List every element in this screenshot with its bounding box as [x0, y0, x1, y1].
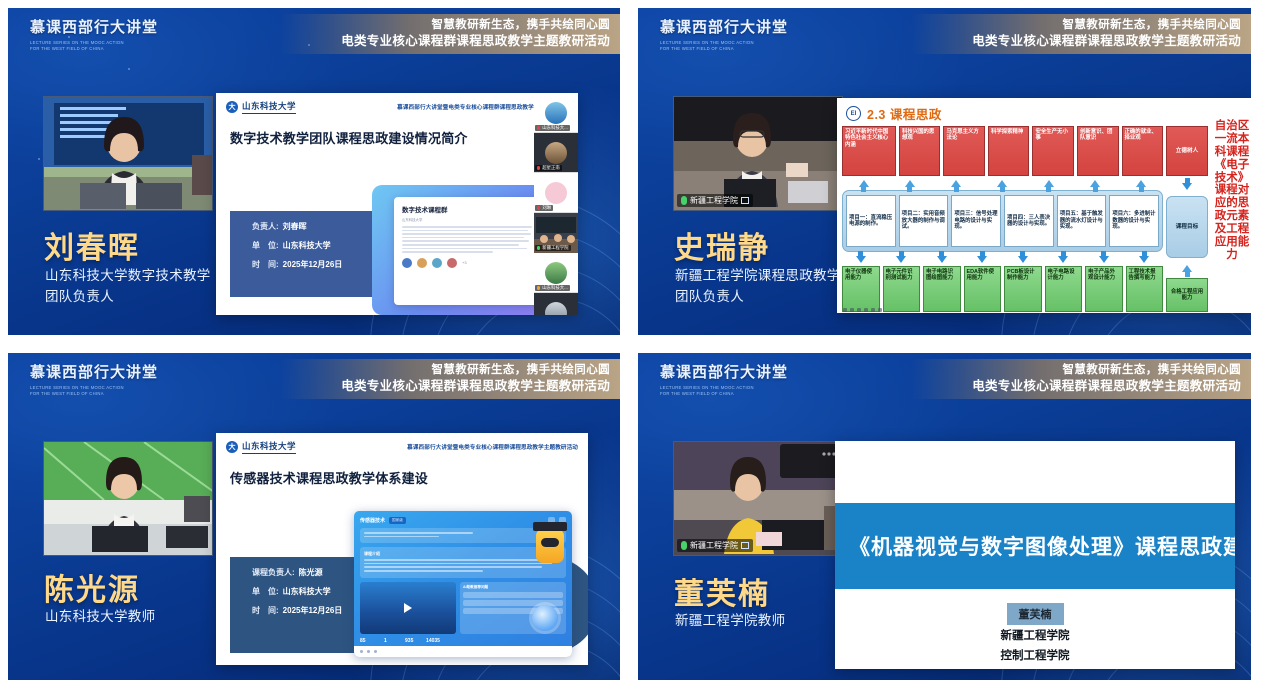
- project-box: 项目五：基于触发器的流水灯设计与实现。: [1057, 195, 1107, 247]
- brand-subtitle: LECTURE SERIES ON THE MOOC ACTION FOR TH…: [660, 385, 788, 398]
- book-text-lines: [402, 226, 532, 253]
- participant-thumb[interactable]: 尹进-山东科技: [534, 293, 578, 315]
- participant-thumb[interactable]: 山东科技大...: [534, 93, 578, 133]
- project-box: 项目三：信号处理电路的设计与实现。: [951, 195, 1001, 247]
- speaker-role-3: 山东科技大学教师: [45, 607, 155, 628]
- brand-block-4: 慕课西部行大讲堂 LECTURE SERIES ON THE MOOC ACTI…: [660, 365, 788, 397]
- ribbon-line-1: 智慧教研新生态，携手共绘同心圆: [1063, 363, 1242, 379]
- diagram-side-note: 自治区一流本科课程《电子技术》课程对应的思政元素及工程应用能力: [1214, 120, 1250, 262]
- mic-muted-icon: [537, 166, 540, 171]
- arrow-down-icon: [1018, 256, 1028, 263]
- screen-share-icon: [741, 542, 749, 549]
- shared-screen-1[interactable]: 大 山东科技大学 慕课西部行大讲堂暨电类专业核心课程群课程思政教学主题教研活动 …: [216, 93, 578, 315]
- participant-label: 刘琳: [535, 205, 553, 211]
- event-ribbon-2: 智慧教研新生态，携手共绘同心圆 电类专业核心课程群课程思政教学主题教研活动: [912, 14, 1251, 54]
- mic-muted-icon: [537, 286, 540, 291]
- participant-thumb[interactable]: 刘琳: [534, 173, 578, 213]
- participant-thumb[interactable]: 新疆工程学院: [534, 213, 578, 253]
- ideology-box: 习近平新时代中国特色社会主义核心内涵: [842, 126, 896, 176]
- arrow-up-icon: [997, 180, 1007, 187]
- ideology-box: 马克思主义方法论: [943, 126, 985, 176]
- book-title: 数字技术课程群: [402, 204, 532, 214]
- brand-subtitle: LECTURE SERIES ON THE MOOC ACTION FOR TH…: [30, 40, 158, 53]
- slide-main-title: 《机器视觉与数字图像处理》课程思政建设: [835, 503, 1235, 589]
- participant-label: 山东科技大...: [535, 285, 570, 291]
- ribbon-line-1: 智慧教研新生态，携手共绘同心圆: [1063, 18, 1242, 34]
- university-logo-1: 大 山东科技大学: [226, 100, 296, 114]
- book-illustration-1: 数字技术课程群 山东科技大学 +3: [372, 185, 552, 315]
- section-title: 课程思政: [890, 108, 942, 122]
- brand-title: 慕课西部行大讲堂: [30, 20, 158, 37]
- ribbon-line-1: 智慧教研新生态，携手共绘同心圆: [432, 363, 611, 379]
- shared-screen-4[interactable]: 《机器视觉与数字图像处理》课程思政建设 董芙楠 新疆工程学院 控制工程学院: [835, 441, 1235, 669]
- video-frame-3: [44, 442, 213, 556]
- video-name-badge-4: 新疆工程学院: [677, 539, 753, 552]
- arrow-up-icon: [951, 180, 961, 187]
- participant-label: 新疆工程学院: [535, 245, 571, 251]
- event-ribbon-3: 智慧教研新生态，携手共绘同心圆 电类专业核心课程群课程思政教学主题教研活动: [281, 359, 620, 399]
- diagram-right-column: 立德树人 课程目标 合格工程应用能力: [1166, 126, 1208, 312]
- ideology-box: 安全生产无小事: [1032, 126, 1074, 176]
- participant-label: 山东科技大...: [535, 125, 570, 131]
- ideology-diagram: EI 2.3 课程思政 习近平新时代中国特色社会主义核心内涵 科技兴国的思想观: [837, 98, 1251, 313]
- video-frame-1: [44, 97, 213, 211]
- meta-value: 2025年12月26日: [283, 261, 343, 270]
- arrow-up-icon: [859, 180, 869, 187]
- university-logo-3: 大 山东科技大学: [226, 440, 296, 454]
- arrow-down-icon: [977, 256, 987, 263]
- diagram-main-column: 习近平新时代中国特色社会主义核心内涵 科技兴国的思想观 马克思主义方法论 科学探…: [842, 126, 1163, 312]
- ideology-box: 创新意识、团队意识: [1077, 126, 1119, 176]
- university-logo-text-3: 山东科技大学: [242, 440, 296, 454]
- school-seal-icon: EI: [846, 106, 861, 121]
- ribbon-line-1: 智慧教研新生态，携手共绘同心圆: [432, 18, 611, 34]
- course-platform-mock[interactable]: 传感器技术 国家级 课程介绍: [354, 511, 572, 657]
- platform-course-name: 传感器技术: [360, 517, 385, 524]
- mic-muted-icon: [537, 206, 540, 211]
- platform-section-title: 课程介绍: [364, 551, 562, 557]
- meta-key: 单 位:: [252, 588, 279, 597]
- event-ribbon-1: 智慧教研新生态，携手共绘同心圆 电类专业核心课程群课程思政教学主题教研活动: [281, 14, 620, 54]
- title-band-wrapper: 《机器视觉与数字图像处理》课程思政建设: [835, 503, 1235, 589]
- meta-value: 陈光源: [299, 569, 323, 578]
- arrow-up-icon: [905, 180, 915, 187]
- arrow-down-icon: [1099, 256, 1109, 263]
- slide-header-1: 慕课西部行大讲堂 LECTURE SERIES ON THE MOOC ACTI…: [8, 8, 620, 60]
- ideology-box: 科技兴国的思想观: [899, 126, 941, 176]
- ppt-title-3: 传感器技术课程思政教学体系建设: [230, 468, 588, 487]
- speaker-video-2[interactable]: 新疆工程学院: [673, 96, 843, 211]
- slide-background-2: 慕课西部行大讲堂 LECTURE SERIES ON THE MOOC ACTI…: [638, 8, 1251, 335]
- shared-screen-2[interactable]: EI 2.3 课程思政 习近平新时代中国特色社会主义核心内涵 科技兴国的思想观: [837, 98, 1251, 313]
- slide-header-3: 慕课西部行大讲堂 LECTURE SERIES ON THE MOOC ACTI…: [8, 353, 620, 405]
- ideology-box: 正确的就业、择业观: [1122, 126, 1164, 176]
- ability-box: 电子电路设计能力: [1045, 266, 1083, 312]
- arrow-down-icon: [896, 256, 906, 263]
- arrow-up-icon: [1090, 180, 1100, 187]
- presenter-org-2: 控制工程学院: [1001, 649, 1070, 665]
- book-page-1: 数字技术课程群 山东科技大学 +3: [394, 197, 540, 305]
- ideology-box: 科学探索精神: [988, 126, 1030, 176]
- ppt-header-1: 大 山东科技大学 慕课西部行大讲堂暨电类专业核心课程群课程思政教学主题教研活动: [216, 93, 578, 118]
- logo-mark-icon: 大: [226, 101, 238, 113]
- speaker-name-4: 董芙楠: [674, 569, 770, 613]
- ability-box: 电子仪器使用能力: [842, 266, 880, 312]
- mascot-icon: [536, 529, 564, 563]
- avatar: [545, 102, 567, 124]
- course-video-thumbnail[interactable]: [360, 582, 456, 634]
- arrow-down-icon: [856, 256, 866, 263]
- ribbon-line-2: 电类专业核心课程群课程思政教学主题教研活动: [341, 378, 610, 395]
- ppt-header-3: 大 山东科技大学 慕课西部行大讲堂暨电类专业核心课程群课程思政教学主题教研活动: [216, 433, 588, 458]
- diagram-header: EI 2.3 课程思政: [846, 104, 1248, 123]
- meta-value: 山东科技大学: [283, 588, 331, 597]
- project-box: 项目四：三人表决器的设计与实现。: [1004, 195, 1054, 247]
- participant-thumb[interactable]: 山东科技大...: [534, 253, 578, 293]
- brand-title: 慕课西部行大讲堂: [30, 365, 158, 382]
- arrow-down-icon: [1182, 183, 1192, 190]
- arrow-down-icon: [937, 256, 947, 263]
- section-number: 2.3: [867, 108, 886, 122]
- avatar: [545, 302, 567, 316]
- ability-row: 电子仪器使用能力 电子元件识别测试能力 电子电路识图绘图能力 EDA软件使用能力…: [842, 266, 1163, 312]
- panel-4[interactable]: 慕课西部行大讲堂 LECTURE SERIES ON THE MOOC ACTI…: [630, 345, 1261, 690]
- speaker-role-4: 新疆工程学院教师: [675, 611, 785, 632]
- speaker-role-1: 山东科技大学数字技术教学 团队负责人: [45, 266, 211, 308]
- ppt-cover-3: 大 山东科技大学 慕课西部行大讲堂暨电类专业核心课程群课程思政教学主题教研活动 …: [216, 433, 588, 665]
- avatar: [545, 182, 567, 204]
- shared-screen-3[interactable]: 大 山东科技大学 慕课西部行大讲堂暨电类专业核心课程群课程思政教学主题教研活动 …: [216, 433, 588, 665]
- project-box: 项目一：直流稳压电源的制作。: [846, 195, 896, 247]
- avatar: [545, 142, 567, 164]
- arrow-up-icon: [1136, 180, 1146, 187]
- participant-label: 超星正南: [535, 165, 562, 171]
- diagram-title: 2.3 课程思政: [867, 104, 942, 123]
- ribbon-line-2: 电类专业核心课程群课程思政教学主题教研活动: [341, 33, 610, 50]
- ability-box: EDA软件使用能力: [964, 266, 1002, 312]
- brand-subtitle: LECTURE SERIES ON THE MOOC ACTION FOR TH…: [30, 385, 158, 398]
- book-subtitle: 山东科技大学: [402, 217, 532, 222]
- ai-quiz-item[interactable]: [463, 592, 563, 598]
- mic-muted-icon: [537, 126, 540, 131]
- slide-header-4: 慕课西部行大讲堂 LECTURE SERIES ON THE MOOC ACTI…: [638, 353, 1251, 405]
- project-box: 项目二：实用音频放大器的制作与调试。: [899, 195, 949, 247]
- speaker-role-2: 新疆工程学院课程思政教学 团队负责人: [675, 266, 841, 308]
- panel-2[interactable]: 慕课西部行大讲堂 LECTURE SERIES ON THE MOOC ACTI…: [630, 0, 1261, 345]
- video-label-2: 新疆工程学院: [690, 195, 738, 206]
- presenter-name: 董芙楠: [1007, 603, 1064, 625]
- brand-block-2: 慕课西部行大讲堂 LECTURE SERIES ON THE MOOC ACTI…: [660, 20, 788, 52]
- ribbon-line-2: 电类专业核心课程群课程思政教学主题教研活动: [972, 33, 1241, 50]
- ribbon-line-2: 电类专业核心课程群课程思政教学主题教研活动: [972, 378, 1241, 395]
- mic-icon: [681, 541, 687, 550]
- slide-background-1: 慕课西部行大讲堂 LECTURE SERIES ON THE MOOC ACTI…: [8, 8, 620, 335]
- title-slide-4: 《机器视觉与数字图像处理》课程思政建设 董芙楠 新疆工程学院 控制工程学院: [835, 441, 1235, 669]
- meta-key: 单 位:: [252, 242, 279, 251]
- brand-title: 慕课西部行大讲堂: [660, 365, 788, 382]
- quad-video-grid: 慕课西部行大讲堂 LECTURE SERIES ON THE MOOC ACTI…: [0, 0, 1261, 690]
- slide-header-2: 慕课西部行大讲堂 LECTURE SERIES ON THE MOOC ACTI…: [638, 8, 1251, 60]
- event-ribbon-4: 智慧教研新生态，携手共绘同心圆 电类专业核心课程群课程思政教学主题教研活动: [912, 359, 1251, 399]
- speaker-video-1[interactable]: [43, 96, 213, 211]
- participant-strip-1[interactable]: 山东科技大... 超星正南 刘琳: [534, 93, 578, 315]
- meta-key: 负责人:: [252, 223, 279, 232]
- goal-box-middle: 课程目标: [1166, 196, 1208, 258]
- ai-quiz-title: AI助教推荐问题: [463, 585, 563, 590]
- book-avatars: +3: [402, 258, 532, 268]
- ideology-row: 习近平新时代中国特色社会主义核心内涵 科技兴国的思想观 马克思主义方法论 科学探…: [842, 126, 1163, 176]
- meta-value: 山东科技大学: [283, 242, 331, 251]
- speaker-name-3: 陈光源: [44, 565, 140, 609]
- panel-1[interactable]: 慕课西部行大讲堂 LECTURE SERIES ON THE MOOC ACTI…: [0, 0, 630, 345]
- video-label-4: 新疆工程学院: [690, 540, 738, 551]
- book-avatar-badge: +3: [462, 260, 467, 265]
- mic-icon: [681, 196, 687, 205]
- participant-thumb[interactable]: 超星正南: [534, 133, 578, 173]
- university-logo-text-1: 山东科技大学: [242, 100, 296, 114]
- meta-value: 2025年12月26日: [283, 607, 343, 616]
- arrow-down-icon: [1058, 256, 1068, 263]
- presenter-org-1: 新疆工程学院: [1001, 629, 1070, 645]
- brand-title: 慕课西部行大讲堂: [660, 20, 788, 37]
- avatar: [545, 262, 567, 284]
- slide-toolbar[interactable]: [843, 308, 882, 312]
- ability-box: 电子产品外观设计能力: [1085, 266, 1123, 312]
- ai-orb-icon: [532, 605, 558, 631]
- ppt-event-banner-3: 慕课西部行大讲堂暨电类专业核心课程群课程思政教学主题教研活动: [407, 443, 578, 451]
- speaker-name-2: 史瑞静: [674, 223, 770, 267]
- speaker-video-3[interactable]: [43, 441, 213, 556]
- project-box: 项目六：多进制计数器的设计与实现。: [1109, 195, 1159, 247]
- slide-blank-area: [835, 441, 1235, 503]
- slide-presenter-block: 董芙楠 新疆工程学院 控制工程学院: [835, 589, 1235, 669]
- mic-icon: [537, 246, 540, 251]
- arrow-row-down: [842, 252, 1163, 266]
- speaker-name-1: 刘春晖: [44, 223, 140, 267]
- diagram-body: 习近平新时代中国特色社会主义核心内涵 科技兴国的思想观 马克思主义方法论 科学探…: [842, 126, 1248, 312]
- ppt-title-1: 数字技术教学团队课程思政建设情况简介: [230, 128, 578, 147]
- ability-box: PCB板设计制作能力: [1004, 266, 1042, 312]
- screen-share-icon: [741, 197, 749, 204]
- brand-block-3: 慕课西部行大讲堂 LECTURE SERIES ON THE MOOC ACTI…: [30, 365, 158, 397]
- slide-background-4: 慕课西部行大讲堂 LECTURE SERIES ON THE MOOC ACTI…: [638, 353, 1251, 680]
- arrow-up-icon: [1182, 265, 1192, 272]
- logo-mark-icon: 大: [226, 441, 238, 453]
- arrow-row-up: [842, 176, 1163, 190]
- meta-key: 课程负责人:: [252, 569, 295, 578]
- ppt-cover-1: 大 山东科技大学 慕课西部行大讲堂暨电类专业核心课程群课程思政教学主题教研活动 …: [216, 93, 578, 315]
- goal-box-bottom: 合格工程应用能力: [1166, 278, 1208, 312]
- arrow-down-icon: [1139, 256, 1149, 263]
- ability-box: 电子元件识别测试能力: [883, 266, 921, 312]
- speaker-video-4[interactable]: 新疆工程学院: [673, 441, 843, 556]
- ability-box: 工程技术报告撰写能力: [1126, 266, 1164, 312]
- meta-key: 时 间:: [252, 261, 279, 270]
- meta-value: 刘春晖: [283, 223, 307, 232]
- panel-3[interactable]: 慕课西部行大讲堂 LECTURE SERIES ON THE MOOC ACTI…: [0, 345, 630, 690]
- goal-box-top: 立德树人: [1166, 126, 1208, 176]
- project-group: 项目一：直流稳压电源的制作。 项目二：实用音频放大器的制作与调试。 项目三：信号…: [842, 190, 1163, 252]
- slide-background-3: 慕课西部行大讲堂 LECTURE SERIES ON THE MOOC ACTI…: [8, 353, 620, 680]
- video-name-badge-2: 新疆工程学院: [677, 194, 753, 207]
- brand-subtitle: LECTURE SERIES ON THE MOOC ACTION FOR TH…: [660, 40, 788, 53]
- arrow-up-icon: [1044, 180, 1054, 187]
- meta-key: 时 间:: [252, 607, 279, 616]
- ability-box: 电子电路识图绘图能力: [923, 266, 961, 312]
- brand-block-1: 慕课西部行大讲堂 LECTURE SERIES ON THE MOOC ACTI…: [30, 20, 158, 52]
- platform-footer[interactable]: [354, 646, 572, 657]
- platform-chip: 国家级: [389, 517, 406, 524]
